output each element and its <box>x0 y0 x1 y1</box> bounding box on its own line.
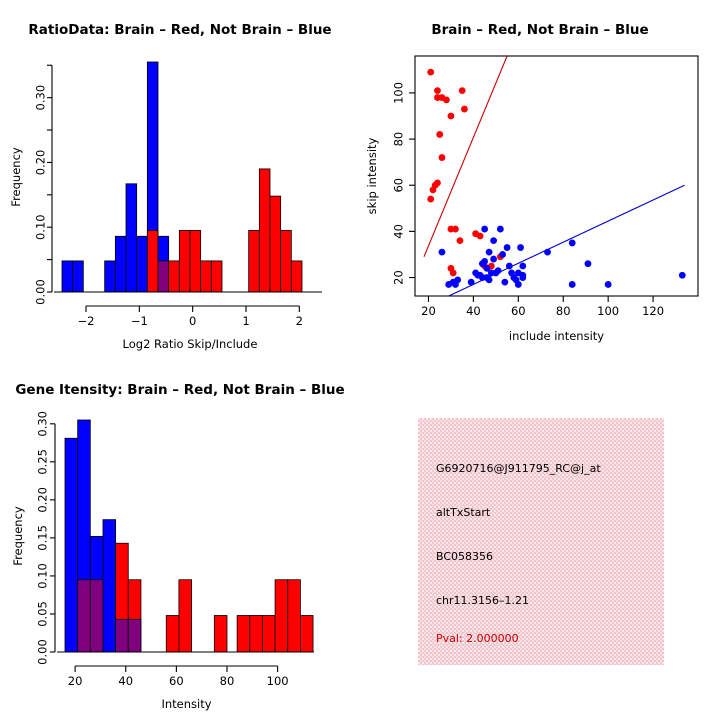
histogram-bar-overlap <box>128 619 141 652</box>
scatter-point <box>519 274 526 281</box>
histogram-bar <box>270 196 281 292</box>
x-axis-tick-label: 100 <box>267 674 289 688</box>
scatter-point <box>490 256 497 263</box>
histogram-bar <box>259 169 270 292</box>
x-axis-tick-label: 40 <box>466 304 481 318</box>
scatter-point <box>436 131 443 138</box>
histogram-bar <box>179 580 192 652</box>
scatter-points-group <box>424 56 686 296</box>
event-type-text: altTxStart <box>436 506 490 519</box>
histogram-bar <box>147 230 158 292</box>
accession-text: BC058356 <box>436 550 493 563</box>
histogram-bar <box>201 261 212 292</box>
histogram-bar <box>73 261 84 292</box>
locus-text: chr11.3156–1.21 <box>436 594 529 607</box>
x-axis-tick-label: 0 <box>189 314 196 328</box>
scatter-point <box>481 258 488 265</box>
y-axis-tick-label: 0.10 <box>34 214 48 240</box>
histogram-bar <box>179 230 190 292</box>
scatter-point <box>439 154 446 161</box>
histogram-bar <box>237 615 250 652</box>
scatter-point <box>569 281 576 288</box>
x-axis-tick-label: 40 <box>118 674 133 688</box>
scatter-point <box>461 106 468 113</box>
scatter-point <box>679 272 686 279</box>
intensity-scatter-panel: Brain – Red, Not Brain – Blue 2040608010… <box>360 0 720 360</box>
scatter-plot-area: 2040608010020406080100120include intensi… <box>365 56 698 343</box>
histogram-bar <box>115 236 126 292</box>
scatter-point <box>459 87 466 94</box>
y-axis-tick-label: 60 <box>392 178 406 193</box>
histogram-bar-overlap <box>90 580 103 652</box>
y-axis-tick-label: 0.10 <box>36 563 50 589</box>
scatter-point <box>468 279 475 286</box>
scatter-point <box>427 69 434 76</box>
histogram-bar <box>169 261 180 292</box>
x-axis-tick-label: 80 <box>556 304 571 318</box>
histogram-bar <box>288 580 301 652</box>
histogram-bar <box>103 520 116 652</box>
histogram-bar <box>249 230 260 292</box>
y-axis-tick-label: 0.00 <box>34 279 48 305</box>
scatter-point <box>544 249 551 256</box>
scatter-point <box>477 233 484 240</box>
y-axis-title: skip intensity <box>365 137 379 214</box>
scatter-point <box>486 249 493 256</box>
scatter-point <box>452 226 459 233</box>
gene-plot-area: 0.000.050.100.150.200.250.3020406080100I… <box>11 411 314 711</box>
histogram-bar <box>300 615 313 652</box>
regression-line <box>424 56 507 257</box>
scatter-point <box>434 87 441 94</box>
x-axis-tick-label: 60 <box>169 674 184 688</box>
histogram-bar <box>62 261 73 292</box>
y-axis-tick-label: 0.15 <box>36 525 50 551</box>
y-axis-tick-label: 80 <box>392 132 406 147</box>
y-axis-tick-label: 0.05 <box>36 601 50 627</box>
gene-intensity-histogram-panel: Gene Itensity: Brain – Red, Not Brain – … <box>0 360 360 720</box>
histogram-bar-overlap <box>78 580 91 652</box>
scatter-point <box>450 270 457 277</box>
x-axis-tick-label: 2 <box>296 314 303 328</box>
x-axis-tick-label: 20 <box>68 674 83 688</box>
scatter-point <box>499 251 506 258</box>
x-axis-tick-label: 20 <box>421 304 436 318</box>
scatter-point <box>517 244 524 251</box>
scatter-point <box>427 196 434 203</box>
scatter-point <box>515 281 522 288</box>
histogram-bar <box>137 236 148 292</box>
scatter-point <box>497 226 504 233</box>
scatter-point <box>569 240 576 247</box>
histogram-bar <box>190 230 201 292</box>
x-axis-tick-label: 80 <box>220 674 235 688</box>
ratio-plot-area: 0.000.100.200.30−2−1012Log2 Ratio Skip/I… <box>9 62 322 351</box>
scatter-point <box>501 279 508 286</box>
x-axis-tick-label: −2 <box>78 314 95 328</box>
y-axis-tick-label: 20 <box>392 270 406 285</box>
scatter-point <box>454 276 461 283</box>
histogram-bar <box>126 184 137 292</box>
scatter-point <box>495 267 502 274</box>
ratio-histogram-panel: RatioData: Brain – Red, Not Brain – Blue… <box>0 0 360 360</box>
y-axis-tick-label: 0.00 <box>36 639 50 665</box>
scatter-point <box>519 263 526 270</box>
scatter-point <box>439 249 446 256</box>
scatter-point <box>504 244 511 251</box>
y-axis-tick-label: 0.30 <box>34 85 48 111</box>
y-axis-tick-label: 0.25 <box>36 449 50 475</box>
histogram-bar <box>250 615 263 652</box>
scatter-point <box>490 237 497 244</box>
histogram-bar <box>166 615 179 652</box>
scatter-point <box>443 96 450 103</box>
histogram-bar <box>281 230 292 292</box>
histogram-bar <box>291 261 302 292</box>
histogram-bar <box>214 615 227 652</box>
x-axis-title: include intensity <box>509 329 604 343</box>
y-axis-tick-label: 0.20 <box>34 150 48 176</box>
x-axis-tick-label: 100 <box>597 304 619 318</box>
scatter-point <box>605 281 612 288</box>
scatter-point <box>430 186 437 193</box>
ratio-histogram-canvas: 0.000.100.200.30−2−1012Log2 Ratio Skip/I… <box>0 0 360 360</box>
scatter-point <box>486 276 493 283</box>
histogram-bar <box>65 438 78 652</box>
scatter-point <box>481 226 488 233</box>
x-axis-title: Log2 Ratio Skip/Include <box>123 337 258 351</box>
histogram-bar <box>262 615 275 652</box>
y-axis-title: Frequency <box>9 147 23 207</box>
y-axis-tick-label: 40 <box>392 224 406 239</box>
scatter-point <box>457 237 464 244</box>
probe-id-text: G6920716@J911795_RC@j_at <box>436 462 601 475</box>
histogram-bar <box>211 261 222 292</box>
probe-info-box: G6920716@J911795_RC@j_at altTxStart BC05… <box>418 418 664 665</box>
y-axis-tick-label: 100 <box>392 82 406 104</box>
scatter-point <box>506 263 513 270</box>
x-axis-tick-label: 60 <box>511 304 526 318</box>
pval-text: Pval: 2.000000 <box>436 632 519 645</box>
histogram-bar-overlap <box>158 261 169 292</box>
gene-intensity-histogram-canvas: 0.000.050.100.150.200.250.3020406080100I… <box>0 360 360 720</box>
x-axis-tick-label: 1 <box>242 314 249 328</box>
x-axis-tick-label: 120 <box>642 304 664 318</box>
histogram-bar-overlap <box>116 619 129 652</box>
y-axis-tick-label: 0.30 <box>36 411 50 437</box>
x-axis-title: Intensity <box>161 697 211 711</box>
histogram-bar <box>105 261 116 292</box>
scatter-point <box>448 113 455 120</box>
plot-page: RatioData: Brain – Red, Not Brain – Blue… <box>0 0 720 720</box>
scatter-point <box>434 180 441 187</box>
intensity-scatter-canvas: 2040608010020406080100120include intensi… <box>360 0 720 360</box>
y-axis-tick-label: 0.20 <box>36 487 50 513</box>
x-axis-tick-label: −1 <box>131 314 148 328</box>
histogram-bar <box>275 580 288 652</box>
y-axis-title: Frequency <box>11 506 25 566</box>
scatter-point <box>585 260 592 267</box>
probe-info-panel: G6920716@J911795_RC@j_at altTxStart BC05… <box>360 360 720 720</box>
